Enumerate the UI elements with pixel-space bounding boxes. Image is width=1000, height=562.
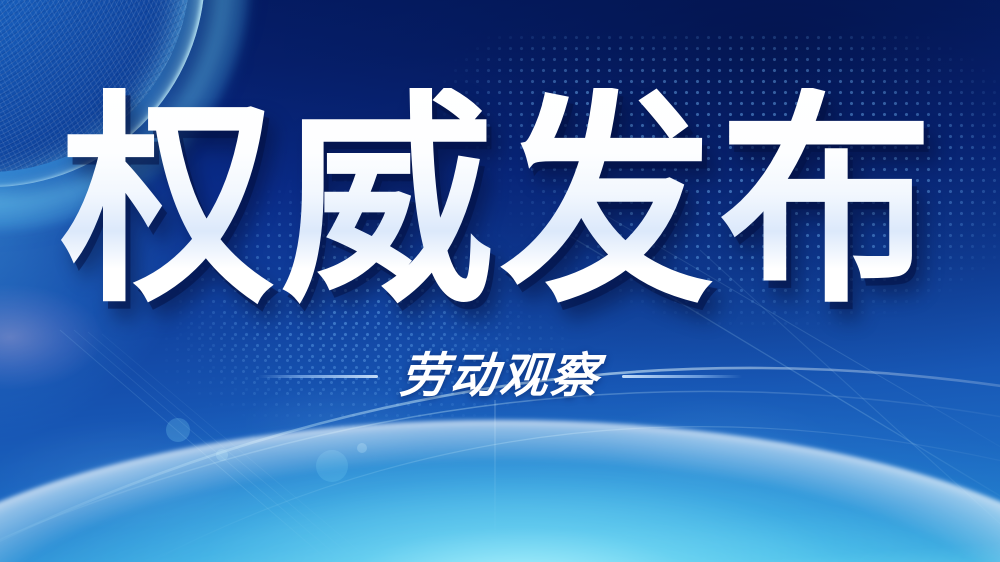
banner-title: 权威发布 bbox=[61, 88, 939, 319]
decorative-rule-right bbox=[622, 375, 742, 378]
title-container: 权威发布 bbox=[0, 88, 1000, 306]
banner-subtitle: 劳动观察 bbox=[398, 352, 602, 400]
subtitle-row: 劳动观察 bbox=[0, 352, 1000, 400]
decorative-rule-left bbox=[258, 375, 378, 378]
authority-release-banner: 权威发布 劳动观察 bbox=[0, 0, 1000, 562]
